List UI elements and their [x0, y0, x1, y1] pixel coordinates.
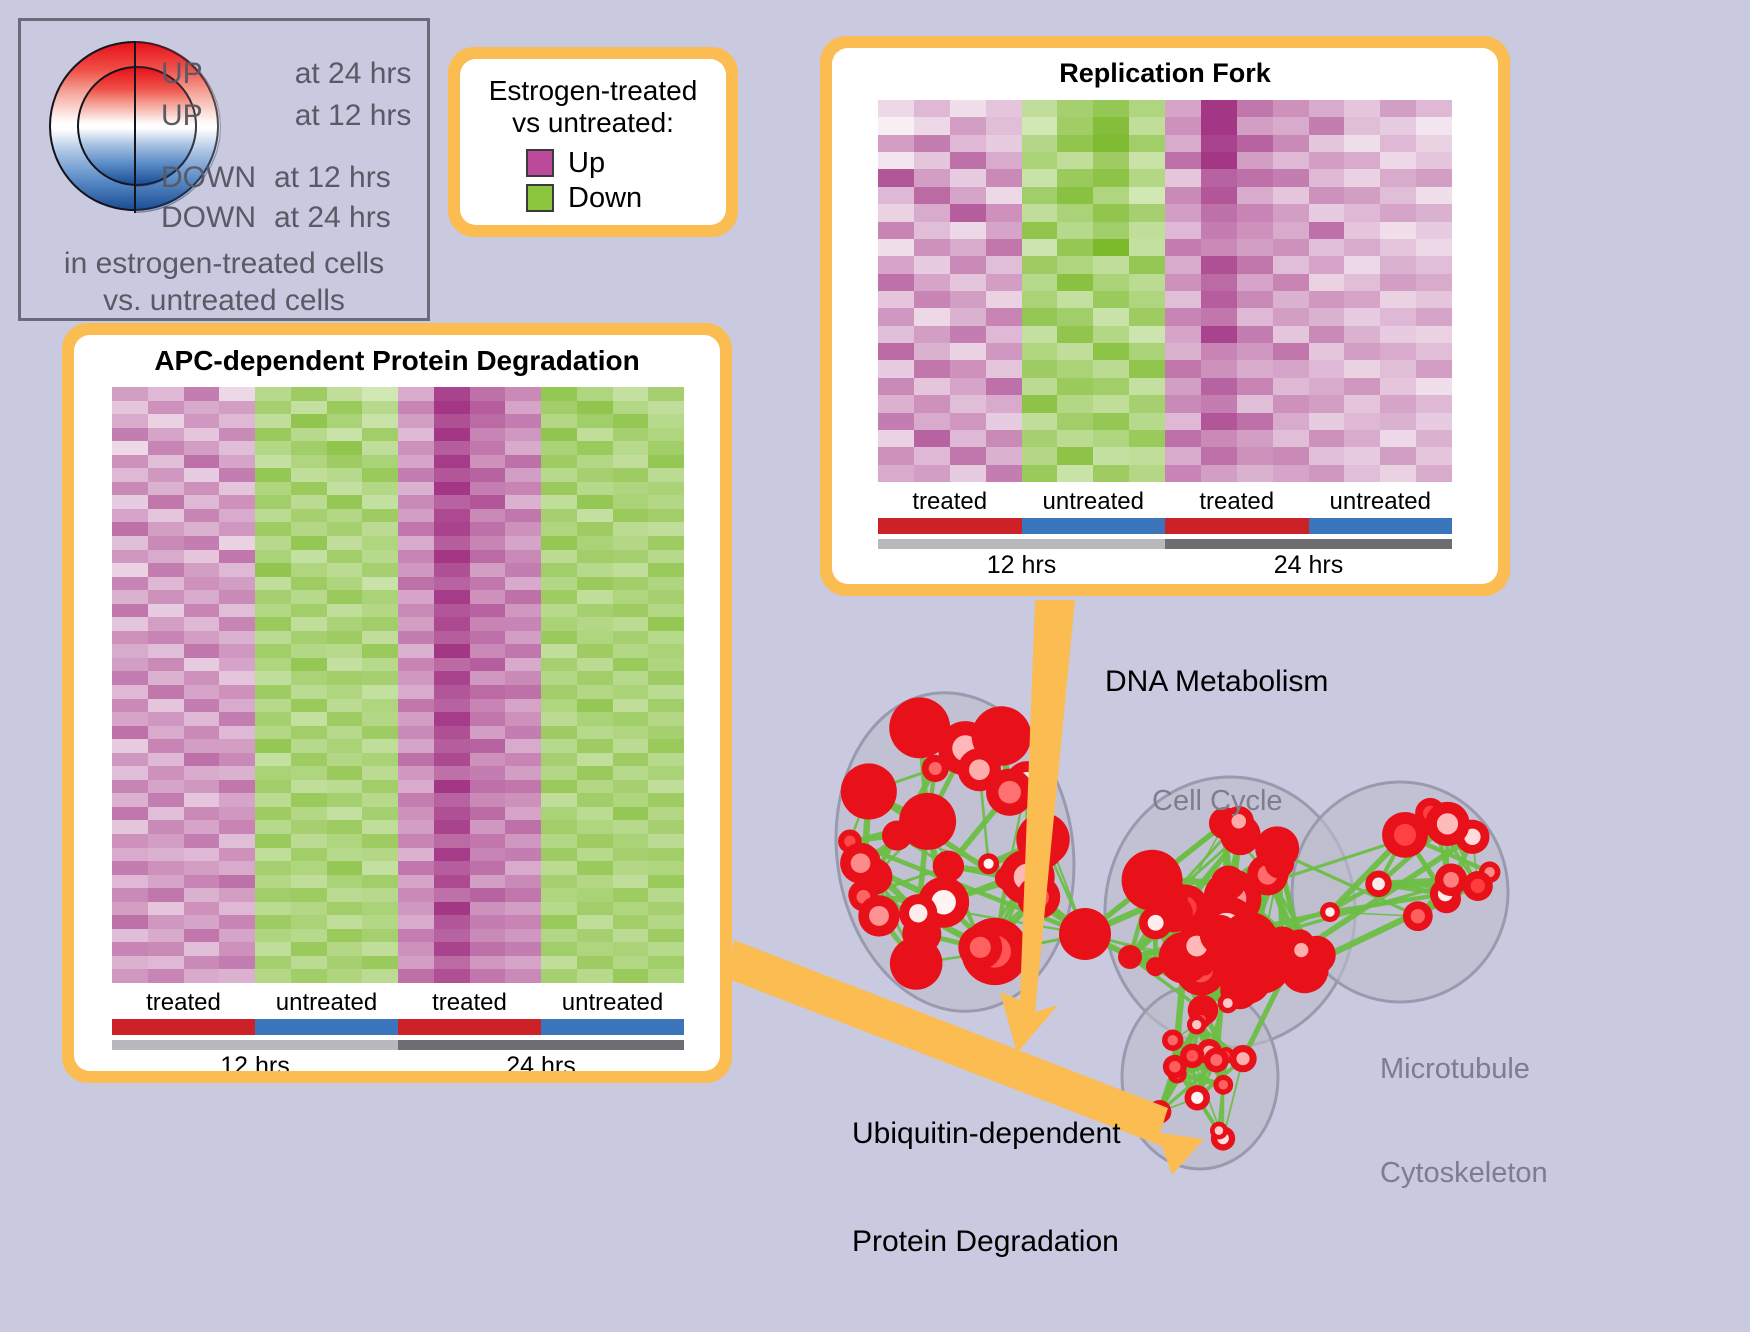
heatmap-cell: [1057, 413, 1093, 430]
heatmap-cell: [1237, 222, 1273, 239]
heatmap-cell: [1309, 395, 1345, 412]
heatmap-cell: [434, 875, 470, 889]
network-node-core: [1219, 1080, 1229, 1090]
heatmap-cell: [291, 414, 327, 428]
heatmap-cell: [291, 902, 327, 916]
heatmap-cell: [1165, 465, 1201, 482]
heatmap-cell: [398, 929, 434, 943]
heatmap-cell: [1380, 447, 1416, 464]
heatmap-cell: [914, 204, 950, 221]
heatmap-cell: [327, 712, 363, 726]
network-node-core: [998, 781, 1021, 804]
heatmap-cell: [434, 929, 470, 943]
heatmap-cell: [950, 343, 986, 360]
heatmap-cell: [327, 536, 363, 550]
heatmap-cell: [184, 942, 220, 956]
heatmap-cell: [184, 685, 220, 699]
heatmap-cell: [398, 766, 434, 780]
heatmap-cell: [398, 956, 434, 970]
heatmap-cell: [434, 387, 470, 401]
network-node[interactable]: [1255, 826, 1299, 870]
heatmap-cell: [327, 550, 363, 564]
heatmap-cell: [398, 441, 434, 455]
heatmap-cell: [1309, 308, 1345, 325]
heatmap-cell: [878, 430, 914, 447]
heatmap-cell: [613, 956, 649, 970]
heatmap-cell: [398, 563, 434, 577]
heatmap-cell: [1165, 395, 1201, 412]
heatmap-cell: [398, 712, 434, 726]
heatmap-cell: [1129, 256, 1165, 273]
heatmap-cell: [470, 766, 506, 780]
heatmap-cell: [914, 256, 950, 273]
heatmap-cell: [255, 969, 291, 983]
heatmap-cell: [950, 222, 986, 239]
heatmap-cell: [1093, 326, 1129, 343]
heatmap-cell: [362, 834, 398, 848]
apc-degradation-title: APC-dependent Protein Degradation: [74, 335, 720, 377]
heatmap-cell: [950, 465, 986, 482]
heatmap-cell: [291, 685, 327, 699]
heatmap-cell: [577, 428, 613, 442]
heatmap-cell: [219, 685, 255, 699]
legend-item-up: Up: [526, 147, 712, 180]
heatmap-cell: [541, 671, 577, 685]
heatmap-cell: [148, 807, 184, 821]
heatmap-cell: [184, 455, 220, 469]
heatmap-cell: [362, 522, 398, 536]
heatmap-cell: [505, 658, 541, 672]
heatmap-cell: [470, 631, 506, 645]
heatmap-cell: [148, 726, 184, 740]
time-label: 24 hrs: [1165, 551, 1452, 580]
heatmap-cell: [1093, 395, 1129, 412]
heatmap-cell: [1237, 169, 1273, 186]
group-color-segment: [112, 1019, 255, 1035]
heatmap-cell: [219, 509, 255, 523]
heatmap-cell: [255, 590, 291, 604]
heatmap-cell: [219, 563, 255, 577]
heatmap-cell: [950, 308, 986, 325]
heatmap-cell: [648, 875, 684, 889]
key-row-up-24: UP at 24 hrs: [161, 57, 411, 91]
heatmap-cell: [986, 169, 1022, 186]
network-node[interactable]: [1220, 912, 1278, 970]
apc-degradation-time-labels: 12 hrs24 hrs: [112, 1052, 684, 1071]
heatmap-cell: [1129, 395, 1165, 412]
heatmap-cell: [470, 712, 506, 726]
heatmap-cell: [505, 590, 541, 604]
heatmap-cell: [541, 414, 577, 428]
heatmap-cell: [112, 441, 148, 455]
heatmap-cell: [986, 152, 1022, 169]
heatmap-cell: [541, 577, 577, 591]
heatmap-cell: [914, 326, 950, 343]
heatmap-cell: [327, 685, 363, 699]
heatmap-cell: [291, 401, 327, 415]
heatmap-cell: [362, 536, 398, 550]
heatmap-cell: [398, 522, 434, 536]
heatmap-cell: [577, 766, 613, 780]
network-node-core: [1169, 1061, 1180, 1072]
heatmap-cell: [1201, 222, 1237, 239]
heatmap-cell: [577, 536, 613, 550]
heatmap-cell: [434, 644, 470, 658]
network-node[interactable]: [1211, 865, 1246, 900]
heatmap-cell: [1344, 395, 1380, 412]
heatmap-cell: [950, 152, 986, 169]
heatmap-cell: [648, 902, 684, 916]
heatmap-cell: [470, 861, 506, 875]
heatmap-cell: [362, 739, 398, 753]
heatmap-cell: [613, 550, 649, 564]
heatmap-cell: [255, 550, 291, 564]
heatmap-cell: [398, 726, 434, 740]
heatmap-cell: [327, 766, 363, 780]
network-node-core: [1443, 872, 1459, 888]
heatmap-cell: [1416, 291, 1452, 308]
heatmap-cell: [434, 969, 470, 983]
heatmap-cell: [1093, 100, 1129, 117]
heatmap-cell: [112, 658, 148, 672]
heatmap-cell: [1237, 447, 1273, 464]
network-node[interactable]: [841, 763, 897, 819]
heatmap-cell: [1129, 274, 1165, 291]
heatmap-cell: [613, 522, 649, 536]
heatmap-cell: [112, 522, 148, 536]
heatmap-cell: [878, 413, 914, 430]
heatmap-cell: [1237, 187, 1273, 204]
heatmap-cell: [112, 902, 148, 916]
heatmap-cell: [434, 631, 470, 645]
heatmap-cell: [1201, 343, 1237, 360]
heatmap-cell: [148, 631, 184, 645]
heatmap-cell: [648, 563, 684, 577]
heatmap-cell: [541, 617, 577, 631]
heatmap-cell: [648, 956, 684, 970]
heatmap-cell: [327, 522, 363, 536]
group-color-segment: [398, 1019, 541, 1035]
heatmap-cell: [1022, 447, 1058, 464]
heatmap-cell: [1022, 135, 1058, 152]
heatmap-cell: [878, 100, 914, 117]
heatmap-cell: [148, 820, 184, 834]
heatmap-cell: [398, 414, 434, 428]
heatmap-cell: [613, 739, 649, 753]
heatmap-cell: [148, 414, 184, 428]
heatmap-cell: [1022, 152, 1058, 169]
heatmap-cell: [148, 495, 184, 509]
heatmap-cell: [505, 563, 541, 577]
heatmap-cell: [327, 604, 363, 618]
up-color-swatch: [526, 149, 554, 177]
heatmap-cell: [398, 875, 434, 889]
heatmap-cell: [219, 726, 255, 740]
heatmap-cell: [505, 604, 541, 618]
heatmap-cell: [914, 187, 950, 204]
network-node-core: [869, 906, 889, 926]
heatmap-cell: [1022, 430, 1058, 447]
heatmap-cell: [291, 455, 327, 469]
microtubule-label-line2: Cytoskeleton: [1380, 1156, 1548, 1191]
ubiquitin-label-line1: Ubiquitin-dependent: [852, 1116, 1121, 1152]
heatmap-cell: [434, 685, 470, 699]
heatmap-cell: [1129, 447, 1165, 464]
heatmap-cell: [505, 875, 541, 889]
heatmap-cell: [1237, 204, 1273, 221]
heatmap-cell: [1416, 395, 1452, 412]
heatmap-cell: [362, 861, 398, 875]
time-color-segment: [398, 1040, 684, 1050]
heatmap-cell: [112, 807, 148, 821]
heatmap-cell: [648, 401, 684, 415]
heatmap-cell: [1380, 169, 1416, 186]
heatmap-cell: [1201, 204, 1237, 221]
heatmap-cell: [1129, 308, 1165, 325]
heatmap-cell: [541, 915, 577, 929]
heatmap-cell: [291, 468, 327, 482]
heatmap-cell: [148, 766, 184, 780]
heatmap-cell: [1416, 343, 1452, 360]
heatmap-cell: [1309, 222, 1345, 239]
heatmap-cell: [878, 135, 914, 152]
heatmap-cell: [505, 861, 541, 875]
heatmap-cell: [505, 495, 541, 509]
heatmap-cell: [327, 699, 363, 713]
heatmap-cell: [1022, 465, 1058, 482]
heatmap-cell: [398, 590, 434, 604]
heatmap-cell: [577, 685, 613, 699]
heatmap-cell: [950, 239, 986, 256]
heatmap-cell: [1201, 430, 1237, 447]
heatmap-cell: [986, 395, 1022, 412]
heatmap-cell: [184, 468, 220, 482]
heatmap-cell: [1093, 291, 1129, 308]
heatmap-cell: [255, 820, 291, 834]
legend-title-line2: vs untreated:: [474, 107, 712, 139]
heatmap-cell: [648, 834, 684, 848]
heatmap-cell: [1416, 239, 1452, 256]
heatmap-cell: [362, 617, 398, 631]
heatmap-cell: [362, 671, 398, 685]
heatmap-cell: [950, 187, 986, 204]
group-color-segment: [1165, 518, 1309, 534]
heatmap-cell: [470, 969, 506, 983]
key-time-down-24: at 24 hrs: [274, 201, 391, 235]
heatmap-cell: [1093, 187, 1129, 204]
heatmap-cell: [184, 793, 220, 807]
heatmap-cell: [648, 820, 684, 834]
heatmap-cell: [148, 793, 184, 807]
heatmap-cell: [577, 644, 613, 658]
replication-fork-group-labels: treateduntreatedtreateduntreated: [878, 488, 1452, 516]
heatmap-cell: [470, 780, 506, 794]
heatmap-cell: [327, 848, 363, 862]
heatmap-cell: [648, 590, 684, 604]
time-color-segment: [878, 539, 1165, 549]
heatmap-cell: [219, 929, 255, 943]
heatmap-cell: [1057, 256, 1093, 273]
heatmap-cell: [878, 274, 914, 291]
heatmap-cell: [613, 942, 649, 956]
heatmap-cell: [112, 577, 148, 591]
heatmap-cell: [398, 509, 434, 523]
heatmap-cell: [327, 861, 363, 875]
network-node[interactable]: [972, 706, 1032, 766]
heatmap-cell: [255, 536, 291, 550]
heatmap-cell: [112, 495, 148, 509]
heatmap-cell: [986, 204, 1022, 221]
network-node-core: [1411, 909, 1425, 923]
heatmap-cell: [327, 807, 363, 821]
heatmap-cell: [1093, 430, 1129, 447]
heatmap-cell: [112, 617, 148, 631]
heatmap-cell: [148, 834, 184, 848]
heatmap-cell: [1201, 274, 1237, 291]
heatmap-cell: [1273, 152, 1309, 169]
heatmap-cell: [1057, 343, 1093, 360]
heatmap-cell: [577, 590, 613, 604]
heatmap-cell: [577, 604, 613, 618]
heatmap-cell: [1165, 152, 1201, 169]
heatmap-cell: [434, 495, 470, 509]
heatmap-cell: [255, 644, 291, 658]
heatmap-cell: [577, 793, 613, 807]
key-row-down-24: DOWN at 24 hrs: [161, 201, 391, 235]
heatmap-cell: [470, 875, 506, 889]
heatmap-cell: [577, 820, 613, 834]
cluster-label-dna-metabolism: DNA Metabolism: [1105, 665, 1328, 699]
heatmap-cell: [986, 447, 1022, 464]
heatmap-cell: [398, 631, 434, 645]
heatmap-cell: [1380, 308, 1416, 325]
heatmap-cell: [986, 326, 1022, 343]
heatmap-cell: [327, 739, 363, 753]
heatmap-cell: [112, 414, 148, 428]
heatmap-cell: [470, 414, 506, 428]
heatmap-cell: [648, 604, 684, 618]
heatmap-cell: [1057, 465, 1093, 482]
group-label: treated: [112, 989, 255, 1017]
heatmap-cell: [1416, 152, 1452, 169]
network-node[interactable]: [890, 937, 943, 990]
heatmap-cell: [1201, 152, 1237, 169]
heatmap-cell: [613, 455, 649, 469]
heatmap-cell: [878, 117, 914, 134]
network-node[interactable]: [1146, 957, 1165, 976]
heatmap-cell: [1273, 465, 1309, 482]
heatmap-cell: [148, 712, 184, 726]
heatmap-cell: [255, 671, 291, 685]
heatmap-cell: [291, 807, 327, 821]
heatmap-cell: [505, 807, 541, 821]
heatmap-cell: [398, 861, 434, 875]
heatmap-cell: [219, 739, 255, 753]
network-node[interactable]: [1118, 945, 1142, 969]
microtubule-label-line1: Microtubule: [1380, 1052, 1548, 1087]
heatmap-cell: [1093, 117, 1129, 134]
heatmap-cell: [577, 807, 613, 821]
heatmap-cell: [219, 604, 255, 618]
heatmap-cell: [1344, 117, 1380, 134]
heatmap-cell: [112, 712, 148, 726]
heatmap-cell: [914, 274, 950, 291]
heatmap-cell: [505, 617, 541, 631]
heatmap-cell: [648, 658, 684, 672]
heatmap-cell: [148, 482, 184, 496]
heatmap-cell: [1165, 256, 1201, 273]
ubiquitin-label-line2: Protein Degradation: [852, 1224, 1121, 1260]
heatmap-cell: [1237, 152, 1273, 169]
heatmap-cell: [613, 617, 649, 631]
heatmap-cell: [577, 414, 613, 428]
heatmap-cell: [1380, 413, 1416, 430]
heatmap-cell: [148, 550, 184, 564]
heatmap-cell: [219, 455, 255, 469]
heatmap-cell: [362, 401, 398, 415]
heatmap-cell: [1273, 291, 1309, 308]
heatmap-cell: [398, 834, 434, 848]
heatmap-cell: [1057, 239, 1093, 256]
heatmap-cell: [291, 726, 327, 740]
heatmap-cell: [541, 888, 577, 902]
heatmap-cell: [1273, 239, 1309, 256]
heatmap-cell: [112, 631, 148, 645]
heatmap-cell: [541, 753, 577, 767]
heatmap-cell: [148, 468, 184, 482]
network-node[interactable]: [1059, 908, 1111, 960]
heatmap-cell: [219, 766, 255, 780]
network-node-core: [1192, 1020, 1201, 1029]
heatmap-cell: [184, 969, 220, 983]
heatmap-cell: [986, 413, 1022, 430]
heatmap-cell: [914, 378, 950, 395]
heatmap-cell: [1273, 447, 1309, 464]
heatmap-cell: [148, 387, 184, 401]
heatmap-cell: [434, 780, 470, 794]
heatmap-cell: [1309, 378, 1345, 395]
heatmap-cell: [112, 468, 148, 482]
heatmap-cell: [291, 482, 327, 496]
heatmap-cell: [577, 726, 613, 740]
heatmap-cell: [1093, 378, 1129, 395]
heatmap-cell: [1022, 187, 1058, 204]
heatmap-cell: [1093, 413, 1129, 430]
heatmap-cell: [648, 577, 684, 591]
heatmap-cell: [362, 441, 398, 455]
heatmap-cell: [541, 793, 577, 807]
heatmap-cell: [255, 617, 291, 631]
heatmap-cell: [470, 888, 506, 902]
heatmap-cell: [470, 509, 506, 523]
heatmap-cell: [577, 834, 613, 848]
heatmap-cell: [541, 766, 577, 780]
heatmap-cell: [505, 888, 541, 902]
network-node-core: [969, 759, 990, 780]
heatmap-cell: [362, 915, 398, 929]
legend-item-down: Down: [526, 182, 712, 215]
apc-degradation-heatmap: [112, 387, 684, 983]
heatmap-cell: [648, 617, 684, 631]
heatmap-cell: [362, 780, 398, 794]
heatmap-cell: [362, 929, 398, 943]
heatmap-cell: [148, 658, 184, 672]
heatmap-cell: [505, 671, 541, 685]
heatmap-cell: [291, 428, 327, 442]
network-node[interactable]: [899, 793, 956, 850]
heatmap-cell: [291, 536, 327, 550]
heatmap-cell: [1344, 222, 1380, 239]
